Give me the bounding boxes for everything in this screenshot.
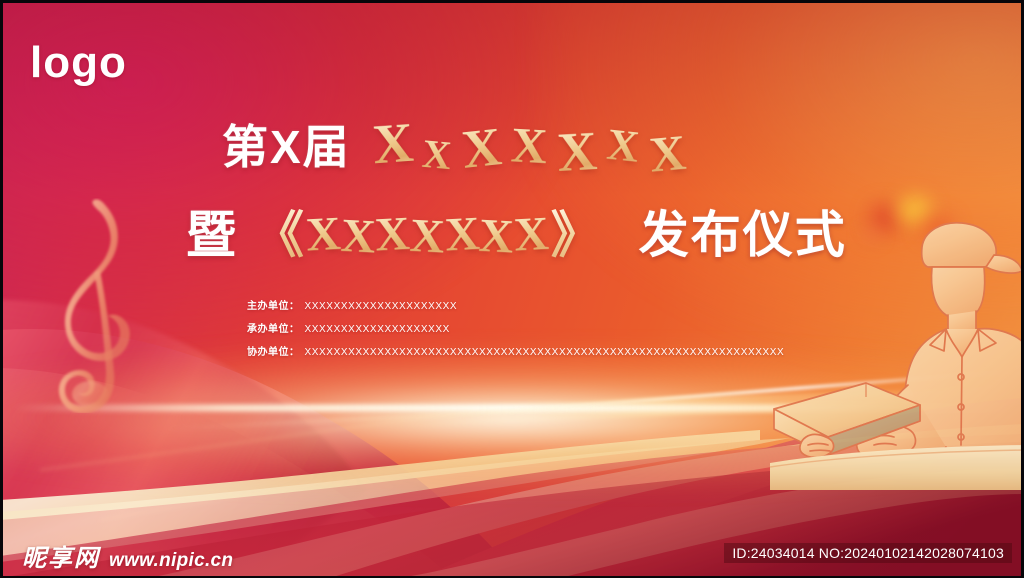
title-line2-prefix: 暨	[186, 207, 238, 263]
organizer-row: 协办单位： XXXXXXXXXXXXXXXXXXXXXXXXXXXXXXXXXX…	[247, 343, 784, 358]
title-line2-bracketed-name: 《 X X X X X X X 》	[254, 207, 601, 263]
gold-x-glyph: X	[556, 122, 599, 182]
gold-x-glyph: X	[647, 123, 688, 184]
asset-id-label: ID:24034014 NO:20240102142028074103	[724, 543, 1012, 563]
title-line2-gold-placeholders: X X X X X X X	[306, 208, 549, 262]
title-line-1: 第X届 X X X X X X X	[222, 118, 685, 176]
organizer-row: 承办单位： XXXXXXXXXXXXXXXXXXXX	[247, 320, 784, 335]
watermark-site-url: www.nipic.cn	[109, 550, 233, 572]
site-watermark: 昵享网 www.nipic.cn	[22, 538, 233, 573]
title-line-2: 暨 《 X X X X X X X 》 发布仪式	[186, 207, 847, 263]
organizer-value: XXXXXXXXXXXXXXXXXXXX	[305, 324, 450, 335]
gold-x-glyph: X	[443, 207, 480, 263]
bracket-close-glyph: 》	[551, 207, 601, 263]
gold-x-glyph: X	[305, 207, 342, 263]
organizer-list: 主办单位： XXXXXXXXXXXXXXXXXXXXX 承办单位： XXXXXX…	[247, 297, 784, 366]
bracket-open-glyph: 《	[254, 207, 304, 263]
organizer-label: 协办单位：	[247, 343, 300, 358]
gold-x-glyph: X	[339, 209, 376, 265]
frame-edge-left	[0, 0, 3, 578]
gold-x-glyph: X	[513, 207, 550, 263]
frame-edge-top	[0, 0, 1024, 3]
gold-x-glyph: X	[409, 209, 446, 265]
gold-x-glyph: X	[478, 209, 515, 265]
treble-clef-icon	[34, 198, 164, 413]
gold-x-glyph: X	[604, 116, 642, 177]
title-line1-gold-placeholders: X X X X X X X	[373, 118, 685, 176]
gold-x-glyph: X	[510, 115, 549, 175]
watermark-site-name: 昵享网	[22, 538, 100, 573]
gold-x-glyph: X	[371, 114, 415, 175]
organizer-label: 承办单位：	[247, 320, 300, 335]
title-line2-suffix: 发布仪式	[639, 207, 847, 263]
organizer-label: 主办单位：	[247, 297, 300, 312]
title-line1-prefix: 第X届	[222, 121, 351, 173]
poster-canvas: logo 第X届 X X X X X X X 暨 《 X X X	[0, 0, 1024, 578]
organizer-row: 主办单位： XXXXXXXXXXXXXXXXXXXXX	[247, 297, 784, 312]
gold-x-glyph: X	[459, 117, 504, 179]
gold-x-glyph: X	[374, 207, 411, 263]
logo-text[interactable]: logo	[30, 41, 127, 85]
organizer-value: XXXXXXXXXXXXXXXXXXXXXXXXXXXXXXXXXXXXXXXX…	[305, 347, 785, 358]
organizer-value: XXXXXXXXXXXXXXXXXXXXX	[305, 301, 458, 312]
gold-x-glyph: X	[420, 125, 454, 185]
